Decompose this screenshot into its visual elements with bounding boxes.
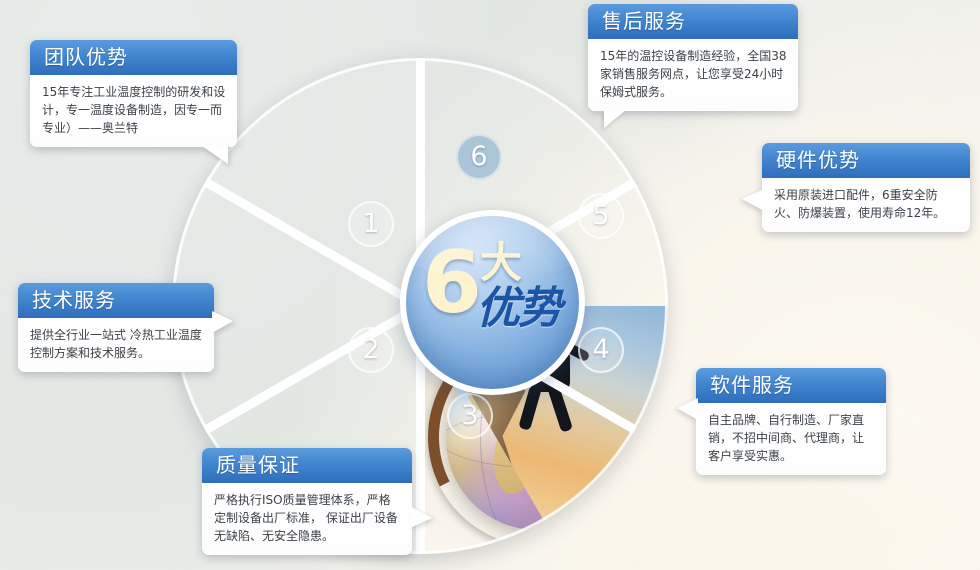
callout-tail	[410, 506, 432, 528]
callout-tail	[742, 189, 764, 211]
callout-body: 15年的温控设备制造经验，全国38家销售服务网点，让您享受24小时保姆式服务。	[588, 39, 798, 111]
callout-body: 采用原装进口配件，6重安全防火、防爆装置，使用寿命12年。	[762, 178, 970, 232]
callout-title: 软件服务	[696, 368, 886, 403]
poster-canvas: 1 2 3 4 5 6 6 大 优势 团队优势 15年专注工业温度控制的研发和设…	[0, 0, 980, 570]
callout-title: 技术服务	[18, 283, 214, 318]
callout-body: 自主品牌、自行制造、厂家直销，不招中间商、代理商，让客户享受实惠。	[696, 403, 886, 475]
callout-body: 提供全行业一站式 冷热工业温度控制方案和技术服务。	[18, 318, 214, 372]
callout-software-service[interactable]: 软件服务 自主品牌、自行制造、厂家直销，不招中间商、代理商，让客户享受实惠。	[696, 368, 886, 475]
badge-4[interactable]: 4	[578, 327, 624, 373]
hub-word: 优势	[476, 286, 560, 332]
callout-tail	[212, 311, 233, 333]
callout-team-advantage[interactable]: 团队优势 15年专注工业温度控制的研发和设计，专一温度设备制造，因专一而专业）—…	[30, 40, 237, 147]
badge-1[interactable]: 1	[348, 201, 394, 247]
hub-unit: 大	[480, 242, 522, 284]
callout-quality-assurance[interactable]: 质量保证 严格执行ISO质量管理体系，严格定制设备出厂标准， 保证出厂设备无缺陷…	[202, 448, 412, 555]
hub-number: 6	[422, 240, 482, 326]
callout-title: 硬件优势	[762, 143, 970, 178]
badge-6[interactable]: 6	[456, 134, 502, 180]
callout-after-sales[interactable]: 售后服务 15年的温控设备制造经验，全国38家销售服务网点，让您享受24小时保姆…	[588, 4, 798, 111]
callout-title: 团队优势	[30, 40, 237, 75]
callout-title: 质量保证	[202, 448, 412, 483]
callout-tail	[677, 398, 698, 420]
callout-title: 售后服务	[588, 4, 798, 39]
callout-body: 15年专注工业温度控制的研发和设计，专一温度设备制造，因专一而专业）——奥兰特	[30, 75, 237, 147]
center-hub: 6 大 优势	[400, 210, 585, 395]
callout-technical-service[interactable]: 技术服务 提供全行业一站式 冷热工业温度控制方案和技术服务。	[18, 283, 214, 372]
badge-3[interactable]: 3	[447, 393, 493, 439]
badge-2[interactable]: 2	[348, 327, 394, 373]
callout-hardware-advantage[interactable]: 硬件优势 采用原装进口配件，6重安全防火、防爆装置，使用寿命12年。	[762, 143, 970, 232]
callout-body: 严格执行ISO质量管理体系，严格定制设备出厂标准， 保证出厂设备无缺陷、无安全隐…	[202, 483, 412, 555]
badge-5[interactable]: 5	[578, 193, 624, 239]
callout-tail	[604, 110, 626, 128]
callout-tail	[202, 146, 228, 164]
